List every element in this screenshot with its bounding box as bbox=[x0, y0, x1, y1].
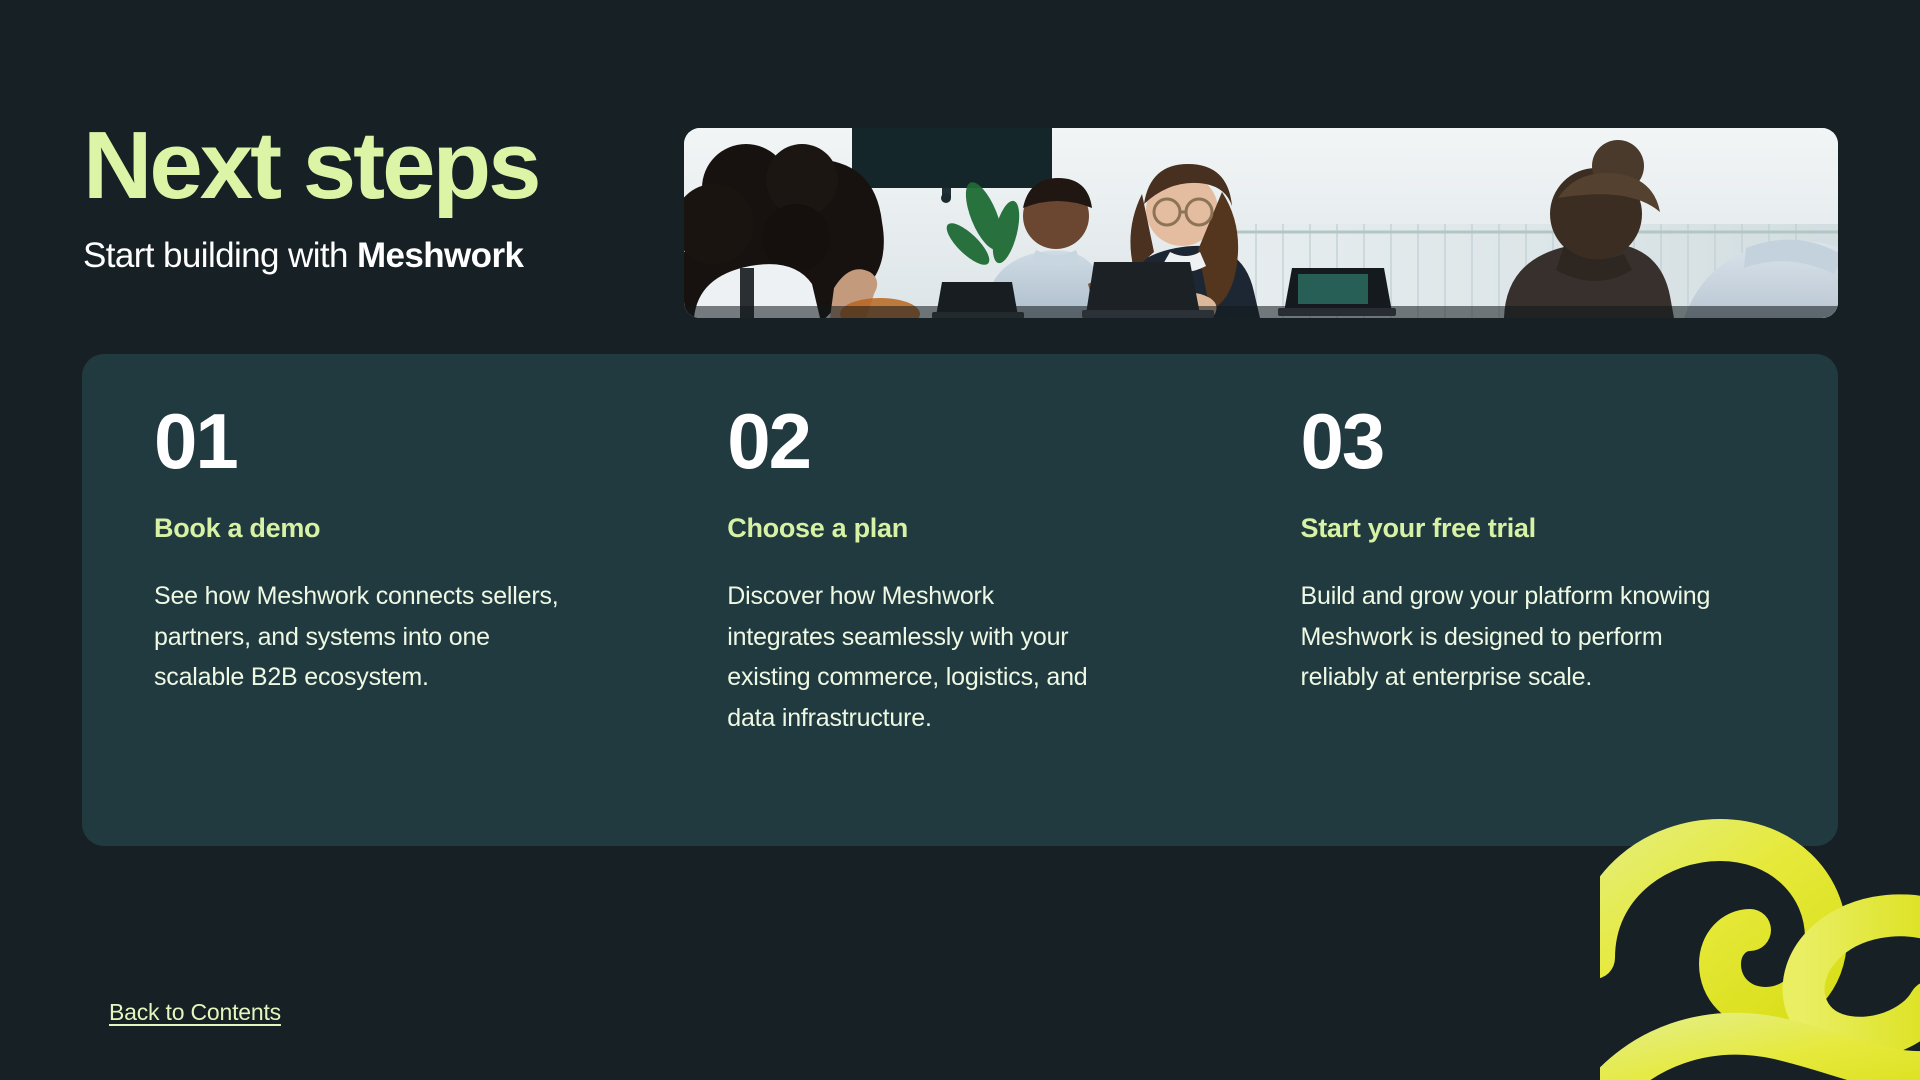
slide-next-steps: Next steps Start building with Meshwork bbox=[0, 0, 1920, 1080]
step-number: 03 bbox=[1301, 404, 1718, 478]
step-body: See how Meshwork connects sellers, partn… bbox=[154, 576, 565, 698]
swirl-decoration-icon bbox=[1600, 812, 1920, 1080]
subtitle-lead: Start building with bbox=[83, 236, 357, 275]
step-card-01: 01 Book a demo See how Meshwork connects… bbox=[154, 404, 695, 738]
subtitle-brand: Meshwork bbox=[357, 236, 523, 275]
step-body: Build and grow your platform knowing Mes… bbox=[1301, 576, 1718, 698]
step-heading: Book a demo bbox=[154, 512, 565, 544]
page-subtitle: Start building with Meshwork bbox=[83, 236, 703, 276]
back-to-contents-link[interactable]: Back to Contents bbox=[109, 999, 281, 1027]
step-card-02: 02 Choose a plan Discover how Meshwork i… bbox=[695, 404, 1236, 738]
step-heading: Choose a plan bbox=[727, 512, 1106, 544]
steps-grid: 01 Book a demo See how Meshwork connects… bbox=[154, 404, 1778, 738]
step-card-03: 03 Start your free trial Build and grow … bbox=[1237, 404, 1778, 738]
steps-panel: 01 Book a demo See how Meshwork connects… bbox=[82, 354, 1838, 846]
header: Next steps Start building with Meshwork bbox=[83, 118, 703, 276]
step-body: Discover how Meshwork integrates seamles… bbox=[727, 576, 1106, 738]
step-number: 01 bbox=[154, 404, 565, 478]
step-heading: Start your free trial bbox=[1301, 512, 1718, 544]
step-number: 02 bbox=[727, 404, 1106, 478]
hero-image bbox=[684, 128, 1838, 318]
page-title: Next steps bbox=[83, 118, 703, 214]
